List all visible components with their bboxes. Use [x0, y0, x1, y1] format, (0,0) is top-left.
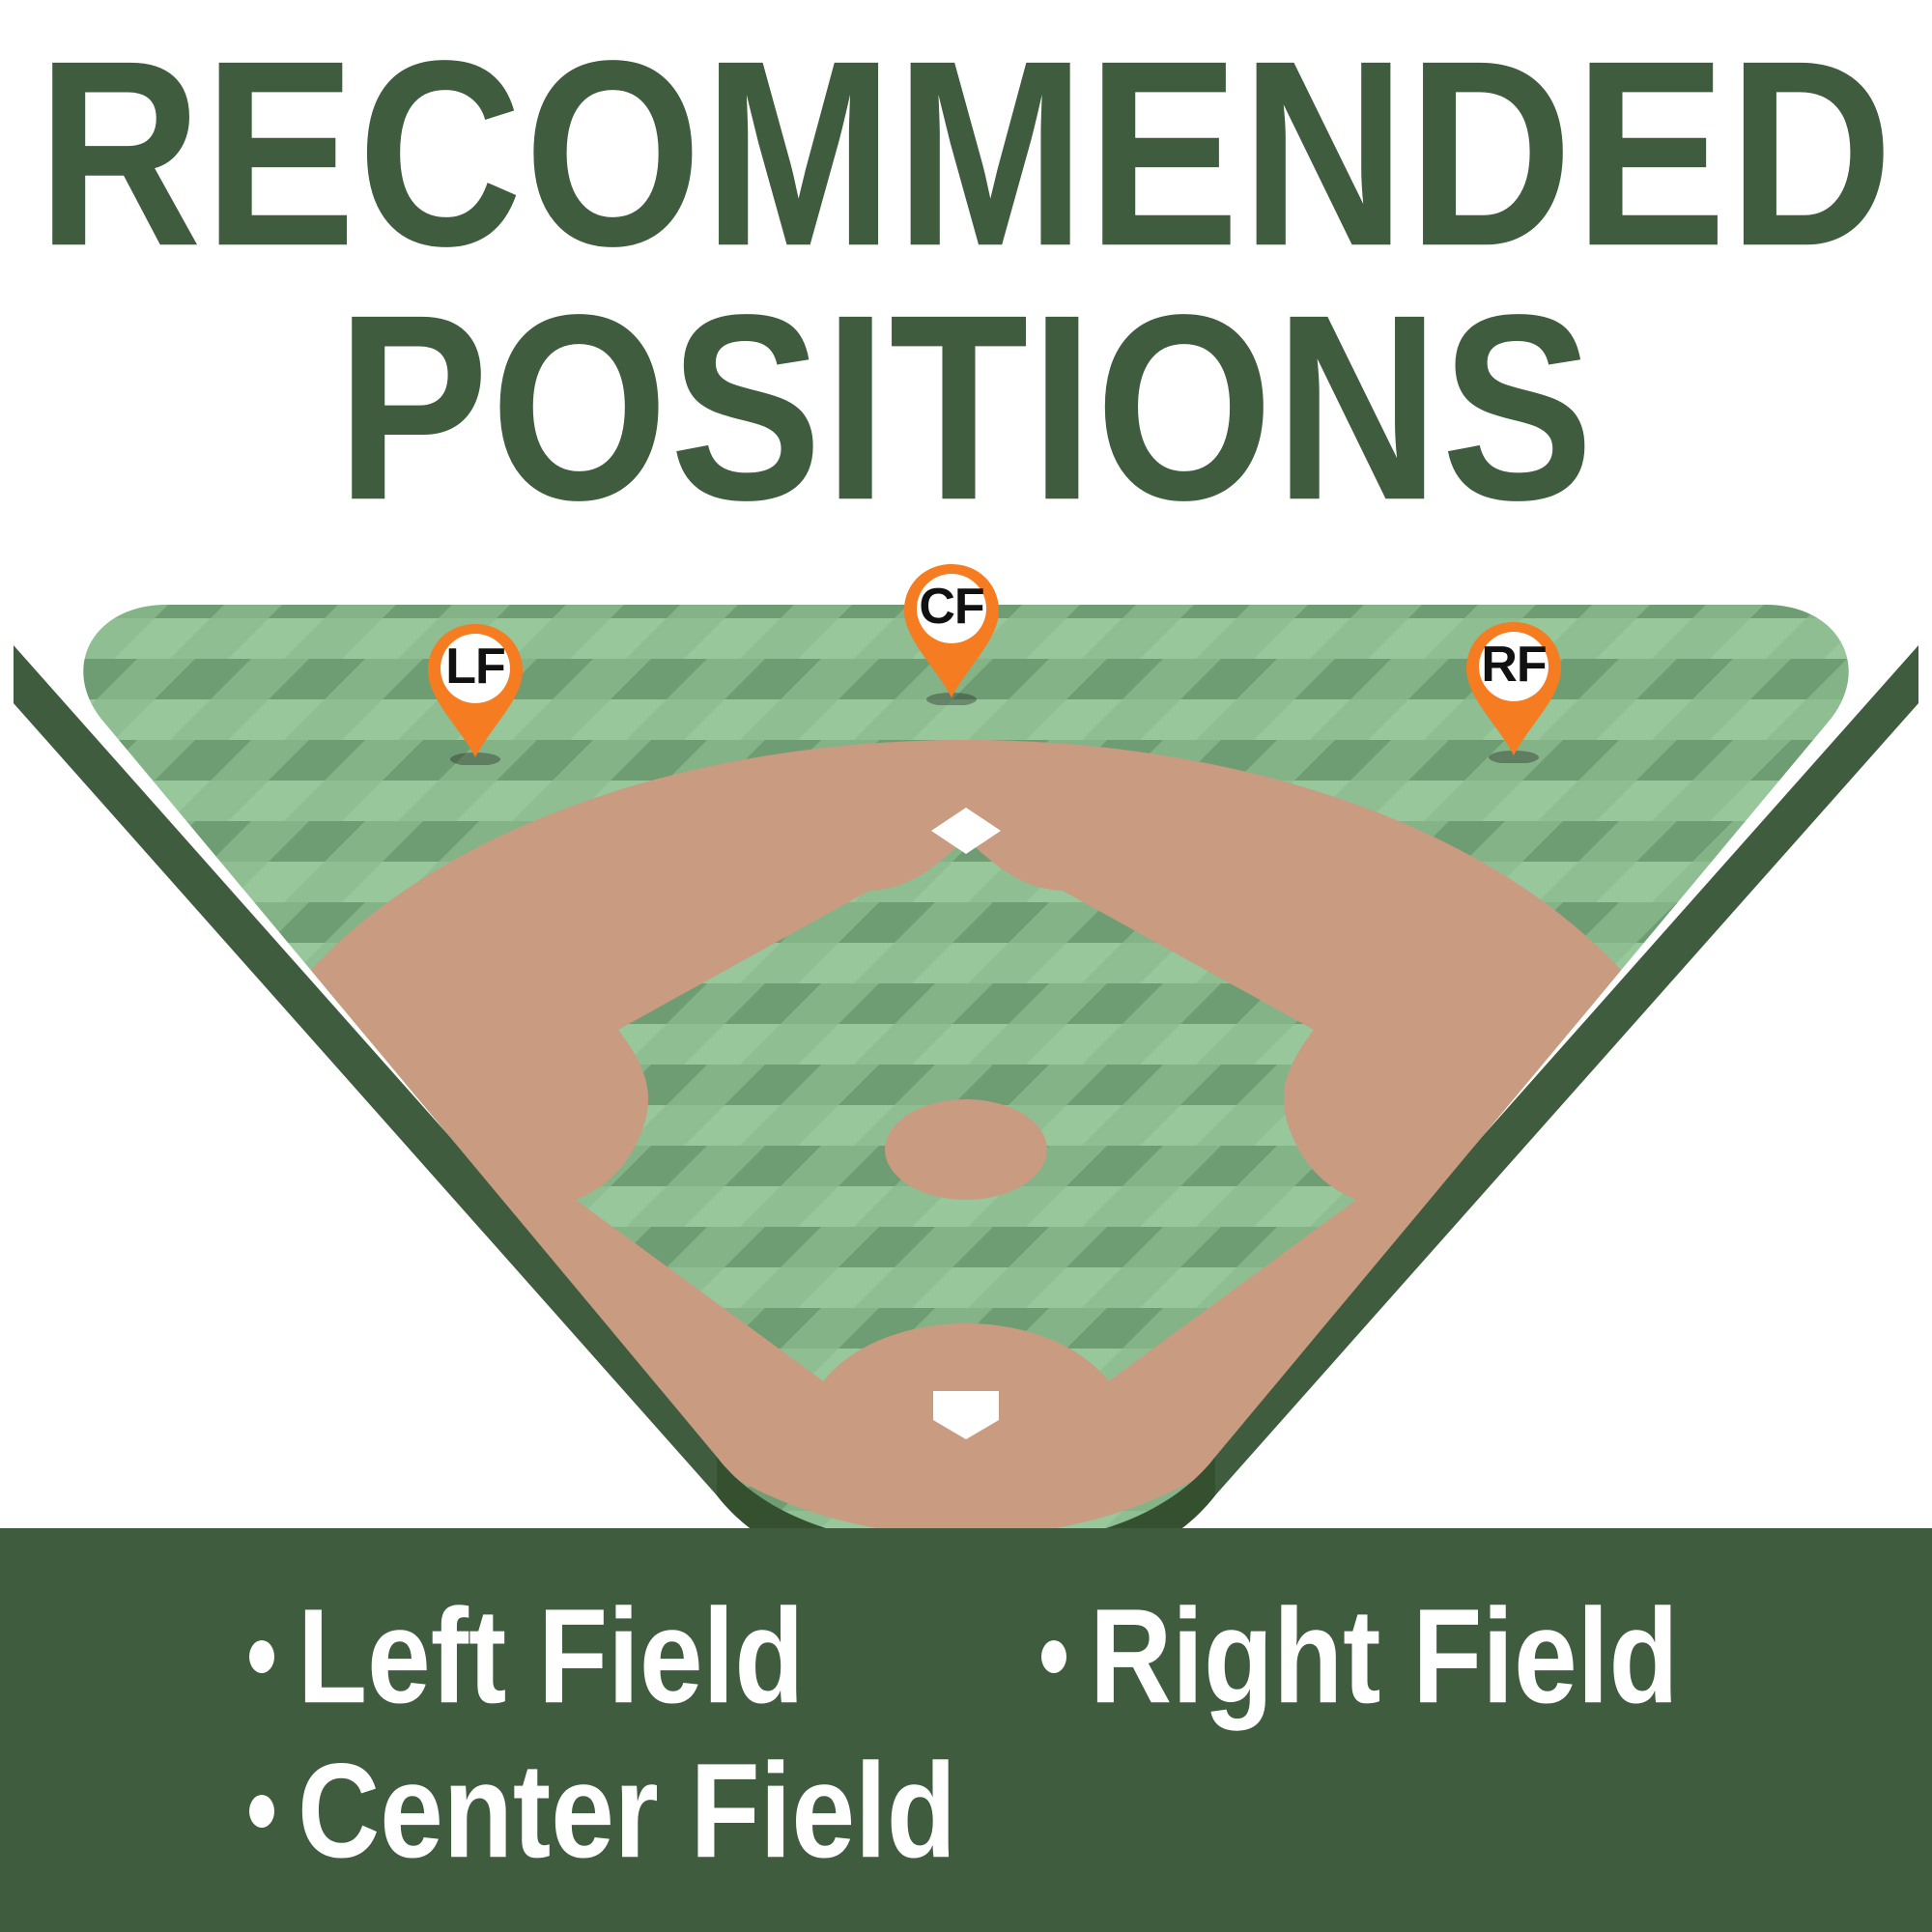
pitchers-mound	[885, 1099, 1047, 1200]
field-marker-cf[interactable]: CF	[898, 558, 1005, 705]
map-pin-icon	[1461, 616, 1567, 763]
list-item-label: Right Field	[1090, 1589, 1679, 1723]
list-item-label: Center Field	[298, 1744, 956, 1878]
map-pin-icon	[422, 618, 528, 765]
list-item-left-field: Left Field	[249, 1584, 964, 1729]
bullet-icon	[1041, 1640, 1066, 1673]
title-line-primary: RECOMMENDED	[37, 33, 1894, 276]
list-item-center-field: Center Field	[249, 1739, 964, 1884]
positions-banner: Left Field Right Field Center Field	[0, 1528, 1932, 1932]
first-base	[1362, 1410, 1432, 1455]
list-item-right-field: Right Field	[1041, 1584, 1756, 1729]
field-marker-lf[interactable]: LF	[422, 618, 528, 765]
field-marker-rf[interactable]: RF	[1461, 616, 1567, 763]
list-item-label: Left Field	[298, 1589, 804, 1723]
positions-list: Left Field Right Field Center Field	[249, 1584, 1756, 1893]
bullet-icon	[249, 1640, 274, 1673]
third-base	[512, 1410, 582, 1455]
map-pin-icon	[898, 558, 1005, 705]
bullet-icon	[249, 1795, 274, 1828]
